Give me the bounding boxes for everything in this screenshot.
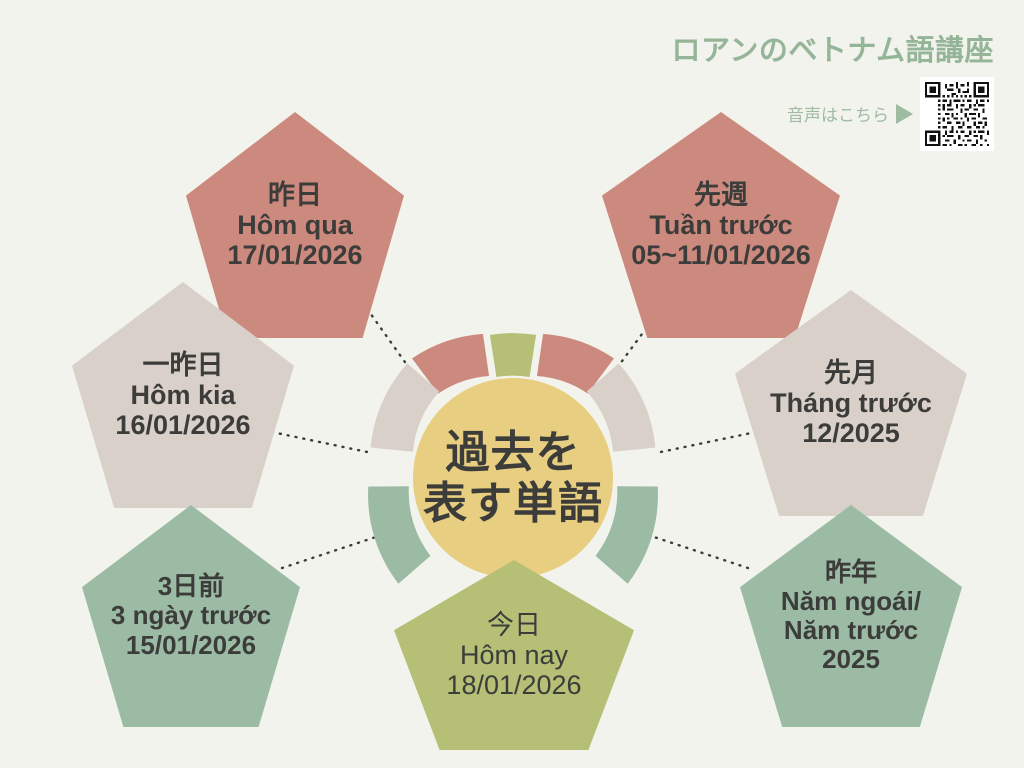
card-jp-label: 昨日 [268, 180, 322, 210]
connector-day-before [272, 432, 372, 453]
card-last-year[interactable]: 昨年 Năm ngoái/ Năm trước 2025 [740, 505, 962, 727]
card-vi-label: Hôm kia [130, 380, 235, 410]
qr-code-icon[interactable] [920, 77, 994, 151]
card-jp-label: 先週 [694, 180, 748, 210]
card-jp-label: 昨年 [825, 558, 877, 587]
card-date-label: 2025 [822, 645, 880, 674]
connector-three-days [282, 535, 382, 568]
card-vi-label: Hôm nay [460, 640, 568, 670]
card-vi-label: Hôm qua [237, 210, 353, 240]
infographic-canvas: ロアンのベトナム語講座 音声はこちら [0, 0, 1024, 768]
card-date-label: 17/01/2026 [227, 240, 362, 270]
card-jp-label: 先月 [824, 358, 878, 388]
card-yesterday[interactable]: 昨日 Hôm qua 17/01/2026 [186, 112, 404, 338]
card-date-label: 16/01/2026 [115, 410, 250, 440]
card-vi-label: Tháng trước [770, 388, 932, 418]
page-title: ロアンのベトナム語講座 [672, 36, 994, 68]
audio-label: 音声はこちら [787, 101, 889, 126]
card-three-days-ago[interactable]: 3日前 3 ngày trước 15/01/2026 [82, 505, 300, 727]
card-date-label: 12/2025 [802, 418, 900, 448]
center-label-line2: 表す単語 [423, 478, 603, 529]
card-date-label: 18/01/2026 [446, 670, 581, 700]
card-date-label: 15/01/2026 [126, 631, 256, 660]
card-vi-label: Tuần trước [649, 210, 792, 240]
card-vi-label: 3 ngày trước [111, 601, 271, 630]
connector-last-year [648, 535, 748, 568]
play-triangle-icon[interactable] [896, 104, 913, 124]
connector-last-month [656, 432, 756, 453]
card-jp-label: 3日前 [158, 572, 224, 601]
card-vi-label: Năm ngoái/ [781, 587, 921, 616]
card-vi-label-2: Năm trước [784, 616, 918, 645]
card-jp-label: 一昨日 [143, 350, 224, 380]
card-date-label: 05~11/01/2026 [631, 240, 810, 270]
center-label-line1: 過去を [446, 427, 581, 478]
card-jp-label: 今日 [487, 610, 541, 640]
